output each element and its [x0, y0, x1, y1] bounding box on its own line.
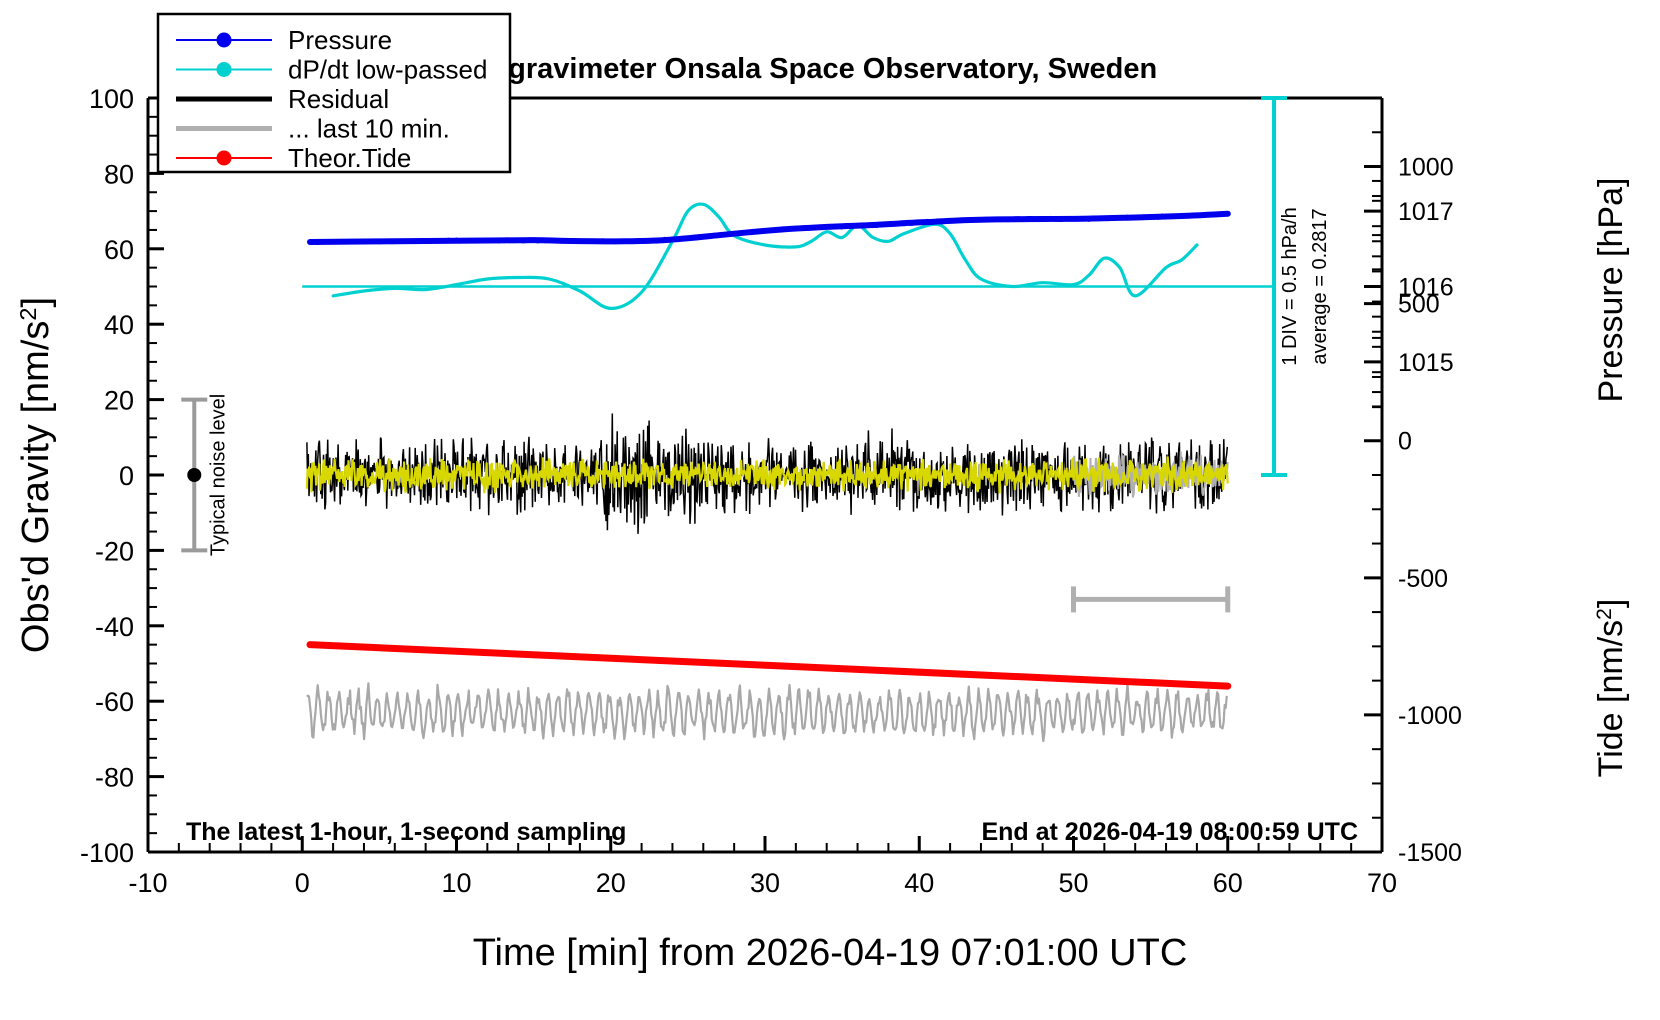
- end-time-note: End at 2026-04-19 08:00:59 UTC: [981, 818, 1358, 846]
- x-tick-label: 10: [441, 868, 471, 898]
- legend-label[interactable]: Pressure: [288, 25, 392, 55]
- y-tick-label: 80: [104, 159, 134, 189]
- y-left-title-main: Obs'd Gravity [nm/s: [15, 321, 57, 653]
- x-tick-label: 60: [1213, 868, 1243, 898]
- tide-tick-label: -1500: [1398, 839, 1462, 867]
- x-tick-label: 30: [750, 868, 780, 898]
- y-tick-label: 100: [89, 84, 134, 114]
- x-tick-label: 20: [596, 868, 626, 898]
- pressure-tick-label: 1015: [1398, 349, 1454, 377]
- x-tick-label: 70: [1367, 868, 1397, 898]
- chart-root: 100806040200-20-40-60-80-100 -1001020304…: [0, 0, 1660, 1020]
- pressure-tick-label: 1017: [1398, 198, 1454, 226]
- y-left-title-end: ]: [15, 297, 57, 308]
- y-tick-label: -60: [95, 687, 134, 717]
- legend-marker-dot: [217, 62, 232, 77]
- dpdt-div-label: 1 DIV = 0.5 hPa/h: [1279, 207, 1301, 365]
- y-axis-right-pressure-title: Pressure [hPa]: [1592, 178, 1630, 403]
- noise-level-label: Typical noise level: [207, 394, 229, 556]
- dpdt-average-label: average = 0.2817: [1309, 208, 1331, 364]
- y-axis-right-tide-title: Tide [nm/s2]: [1592, 599, 1630, 778]
- y-tick-label: -20: [95, 536, 134, 566]
- y-tick-label: 60: [104, 235, 134, 265]
- legend-marker-dot: [217, 151, 232, 166]
- x-tick-label: 40: [904, 868, 934, 898]
- x-tick-label: 0: [295, 868, 310, 898]
- legend-label[interactable]: Theor.Tide: [288, 143, 411, 173]
- gravimeter-chart: 100806040200-20-40-60-80-100 -1001020304…: [0, 0, 1660, 1020]
- y-tick-label: -80: [95, 763, 134, 793]
- svg-text:Tide [nm/s2]: Tide [nm/s2]: [1592, 599, 1630, 778]
- sampling-note: The latest 1-hour, 1-second sampling: [186, 818, 626, 846]
- y-tick-label: -100: [80, 838, 134, 868]
- x-axis-title: Time [min] from 2026-04-19 07:01:00 UTC: [473, 932, 1188, 974]
- legend-label[interactable]: ... last 10 min.: [288, 114, 450, 144]
- y-right-tide-title-sup: 2: [1593, 608, 1616, 620]
- legend-label[interactable]: Residual: [288, 84, 389, 114]
- y-tick-label: 20: [104, 386, 134, 416]
- x-tick-label: -10: [128, 868, 167, 898]
- tide-tick-label: 500: [1398, 291, 1440, 319]
- y-tick-label: 40: [104, 310, 134, 340]
- y-tick-label: 0: [119, 461, 134, 491]
- y-left-title-sup: 2: [15, 308, 41, 321]
- tide-tick-label: -1000: [1398, 702, 1462, 730]
- y-tick-label: -40: [95, 612, 134, 642]
- y-right-tide-title-main: Tide [nm/s: [1592, 620, 1630, 777]
- tide-tick-label: -500: [1398, 565, 1448, 593]
- svg-text:Obs'd Gravity [nm/s2]: Obs'd Gravity [nm/s2]: [15, 297, 57, 653]
- x-tick-label: 50: [1058, 868, 1088, 898]
- y-axis-left-title: Obs'd Gravity [nm/s2]: [15, 297, 57, 653]
- legend-label[interactable]: dP/dt low-passed: [288, 55, 487, 85]
- tide-tick-label: 1000: [1398, 154, 1454, 182]
- legend: PressuredP/dt low-passedResidual... last…: [158, 14, 510, 173]
- legend-marker-dot: [217, 33, 232, 48]
- y-right-tide-title-end: ]: [1592, 599, 1630, 608]
- tide-tick-label: 0: [1398, 428, 1412, 456]
